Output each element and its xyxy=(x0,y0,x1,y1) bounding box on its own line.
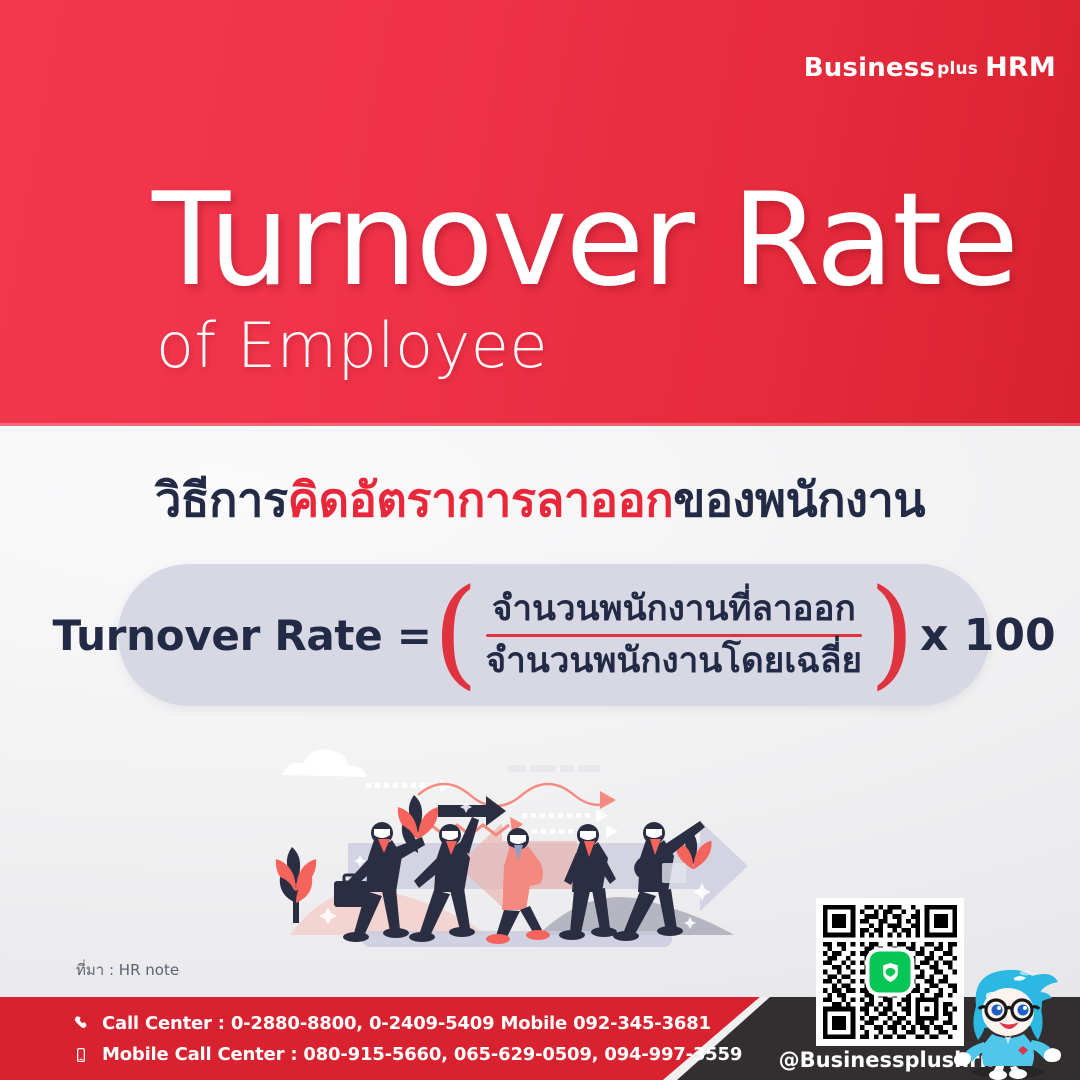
brand-name-plus: plus xyxy=(937,59,978,79)
brand-name-part1: Business xyxy=(804,53,935,83)
contact-info: Call Center : 0-2880-8800, 0-2409-5409 M… xyxy=(68,1008,742,1070)
mascot-character xyxy=(946,962,1070,1080)
formula-multiplier: x 100 xyxy=(920,610,1056,661)
page-subtitle: of Employee xyxy=(156,315,548,377)
header-banner: BusinessplusHRM Turnover Rate of Employe… xyxy=(0,0,1080,426)
call-center-text: Call Center : 0-2880-8800, 0-2409-5409 M… xyxy=(102,1013,711,1034)
line-icon xyxy=(870,952,911,993)
fraction-numerator: จำนวนพนักงานที่ลาออก xyxy=(492,589,856,629)
contact-row-mobile-call-center: Mobile Call Center : 080-915-5660, 065-6… xyxy=(68,1039,742,1070)
mobile-icon xyxy=(68,1047,94,1063)
fraction-bar xyxy=(486,634,862,637)
formula-left-side: Turnover Rate = xyxy=(52,611,431,660)
formula-fraction: จำนวนพนักงานที่ลาออก จำนวนพนักงานโดยเฉลี… xyxy=(486,588,862,682)
contact-row-call-center: Call Center : 0-2880-8800, 0-2409-5409 M… xyxy=(68,1008,742,1039)
page-title: Turnover Rate xyxy=(152,177,1017,305)
phone-icon xyxy=(68,1015,94,1032)
qr-canvas xyxy=(823,905,957,1039)
heading-part-2: คิดอัตราการลาออก xyxy=(288,473,674,528)
section-heading: วิธีการคิดอัตราการลาออกของพนักงาน xyxy=(0,474,1080,528)
brand-name-part2: HRM xyxy=(985,52,1056,83)
formula-card: Turnover Rate = ( จำนวนพนักงานที่ลาออก จ… xyxy=(118,564,990,706)
qr-code[interactable] xyxy=(816,898,964,1046)
brand-logo: BusinessplusHRM xyxy=(804,52,1056,83)
illustration-business-people xyxy=(270,735,770,985)
fraction-denominator: จำนวนพนักงานโดยเฉลี่ย xyxy=(486,641,862,681)
source-credit: ที่มา : HR note xyxy=(76,958,179,982)
heading-part-1: วิธีการ xyxy=(155,473,288,528)
mobile-call-center-text: Mobile Call Center : 080-915-5660, 065-6… xyxy=(102,1044,742,1065)
heading-part-3: ของพนักงาน xyxy=(673,473,925,528)
line-shield-glyph xyxy=(879,961,901,983)
infographic-poster: BusinessplusHRM Turnover Rate of Employe… xyxy=(0,0,1080,1080)
